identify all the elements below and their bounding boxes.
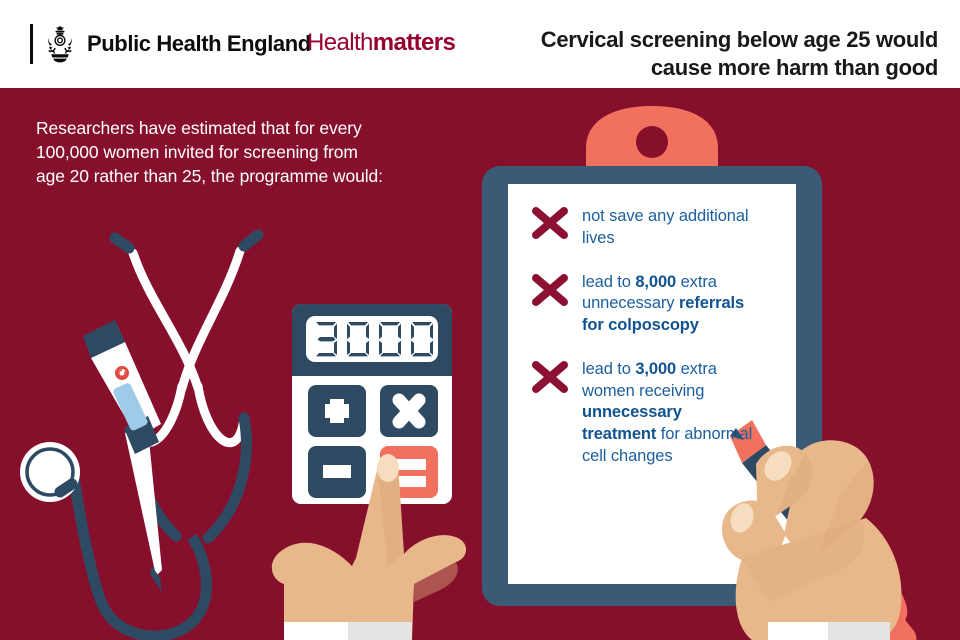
red-cross-icon <box>528 357 572 397</box>
list-item-text: not save any additional lives <box>582 203 758 250</box>
illustration-layer <box>0 88 960 640</box>
logo-divider-bar <box>30 24 33 64</box>
red-cross-icon <box>528 270 572 310</box>
clipboard-findings-list: not save any additional lives lead to 8,… <box>528 203 758 488</box>
page-title: Cervical screening below age 25 would ca… <box>458 26 938 81</box>
clipboard-clip-hole <box>636 126 668 158</box>
thermometer-illustration <box>83 320 162 592</box>
infographic-canvas: Researchers have estimated that for ever… <box>0 88 960 640</box>
list-item: lead to 8,000 extra unnecessary referral… <box>528 270 758 337</box>
list-item-text: lead to 8,000 extra unnecessary referral… <box>582 270 758 337</box>
health-matters-logo: Healthmatters <box>307 29 455 57</box>
brand-regular-text: Health <box>307 29 373 56</box>
page-header: Public Health England Healthmatters Cerv… <box>0 0 960 88</box>
page-title-line-2: cause more harm than good <box>458 54 938 82</box>
calculator-illustration <box>292 304 452 504</box>
brand-bold-text: matters <box>373 29 456 56</box>
royal-coat-of-arms-icon <box>43 24 77 64</box>
list-item: lead to 3,000 extra women receiving unne… <box>528 357 758 468</box>
organisation-name: Public Health England <box>87 31 311 57</box>
red-cross-icon <box>528 203 572 243</box>
page-title-line-1: Cervical screening below age 25 would <box>458 26 938 54</box>
infographic-root: Public Health England Healthmatters Cerv… <box>0 0 960 640</box>
list-item: not save any additional lives <box>528 203 758 250</box>
list-item-text: lead to 3,000 extra women receiving unne… <box>582 357 758 468</box>
phe-logo-lockup: Public Health England <box>30 24 311 64</box>
